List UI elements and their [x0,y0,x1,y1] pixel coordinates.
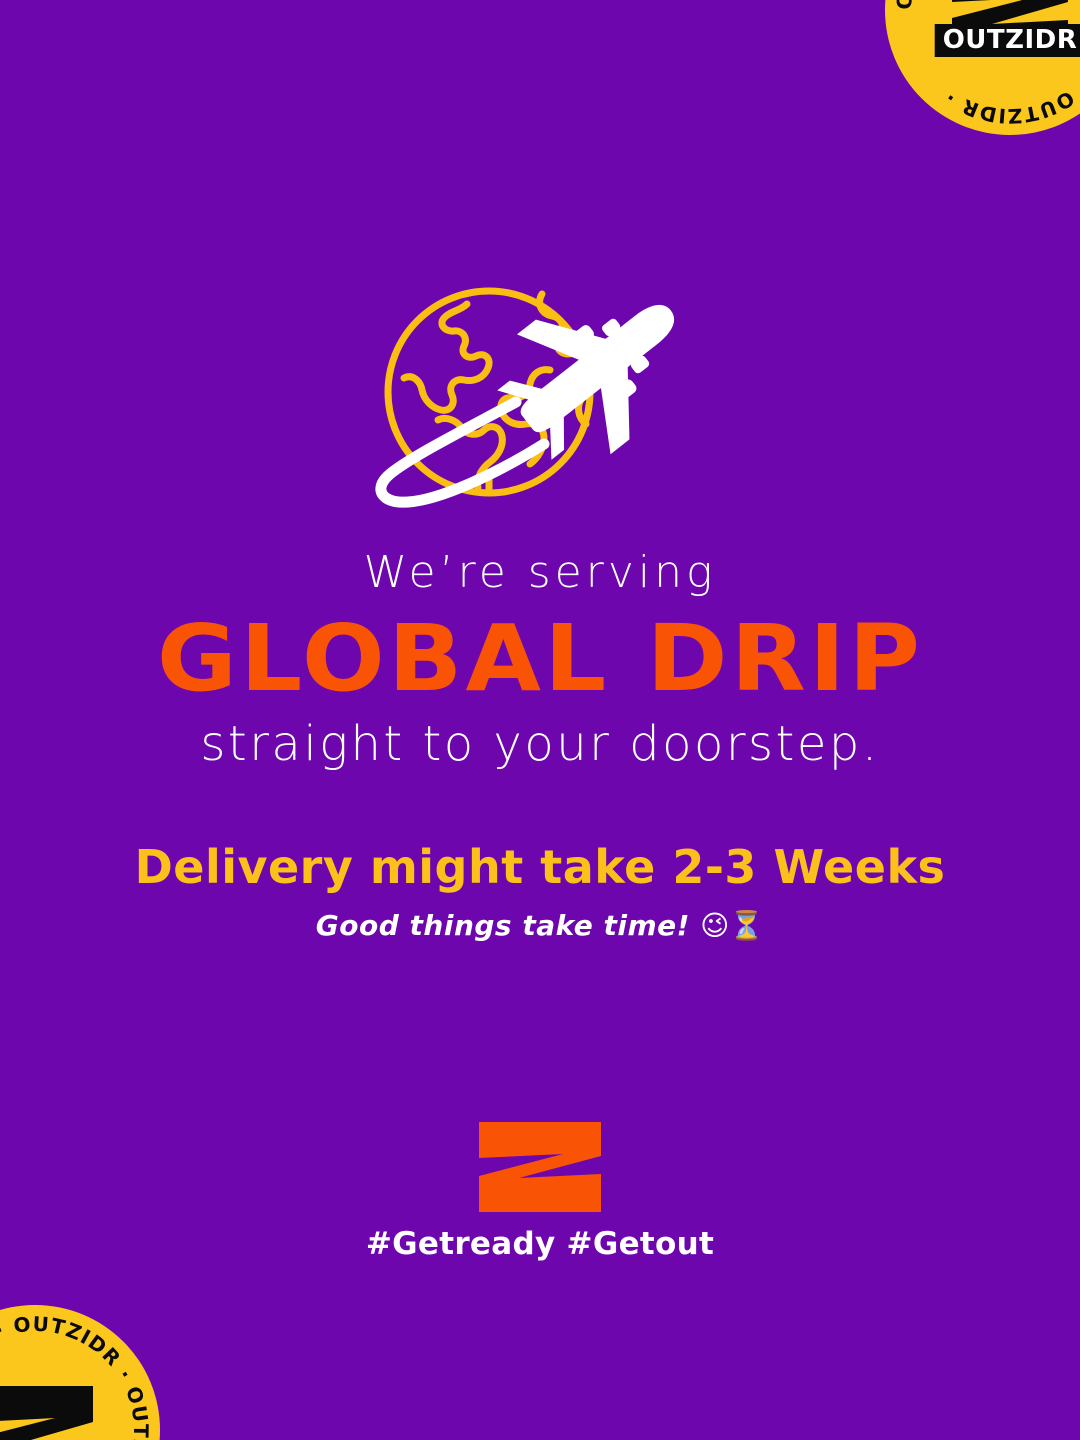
airplane-icon [478,278,716,485]
delivery-notice-text: Delivery might take 2-3 Weeks [0,842,1080,893]
reassurance-text: Good things take time! [316,909,690,942]
reassurance-line: Good things take time! 😉⏳ [0,909,1080,943]
subhead-text: straight to your doorstep. [0,717,1080,772]
headline-text: GLOBAL DRIP [0,611,1080,708]
brand-badge-top-right: OUTZIDR · OUTZIDR · OUTZIDR · OUTZIDR · … [885,0,1080,135]
footer-lockup: #Getready #Getout [0,1122,1080,1262]
promo-poster: OUTZIDR · OUTZIDR · OUTZIDR · OUTZIDR · … [0,0,1080,1440]
wink-hourglass-emoji: 😉⏳ [700,909,764,942]
copy-block: We’re serving GLOBAL DRIP straight to yo… [0,548,1080,943]
eyebrow-text: We’re serving [0,548,1080,599]
badge-z-icon [0,1382,99,1440]
brand-badge-bottom-left: OUTZIDR · OUTZIDR · OUTZIDR · OUTZIDR · … [0,1305,160,1440]
badge-wordmark: OUTZIDR [935,24,1080,57]
globe-airplane-illustration [364,278,716,510]
hashtags-text: #Getready #Getout [0,1226,1080,1262]
outzidr-z-logo [479,1122,601,1212]
